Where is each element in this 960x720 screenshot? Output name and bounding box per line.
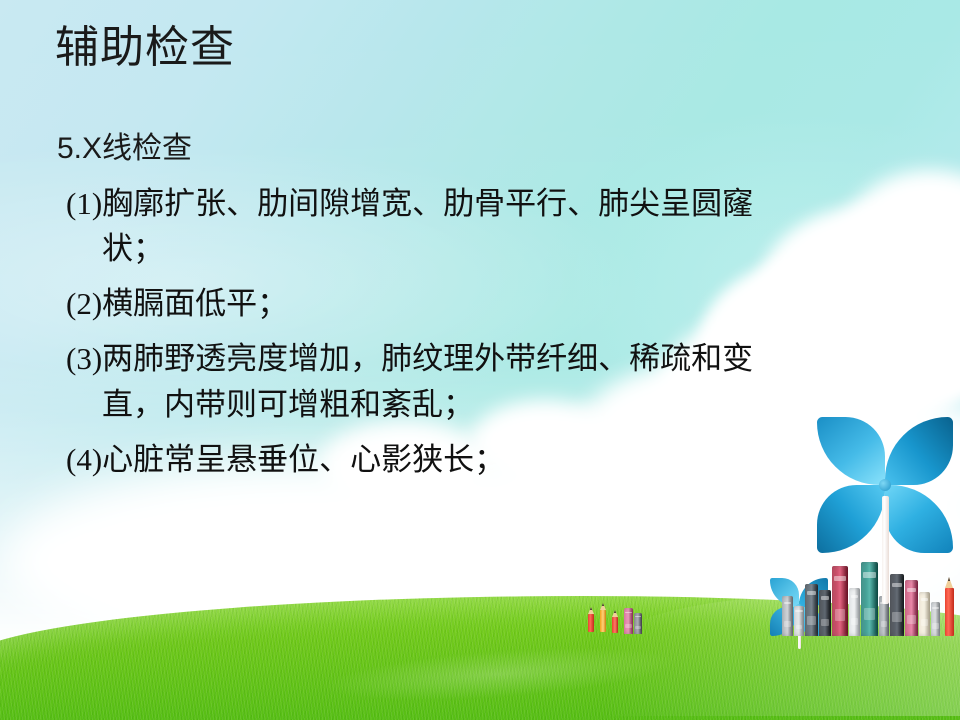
- list-item: (3)两肺野透亮度增加，肺纹理外带纤细、稀疏和变 直，内带则可增粗和紊乱；: [66, 336, 922, 427]
- pencil-icon: [945, 588, 954, 636]
- list-item: (4)心脏常呈悬垂位、心影狭长；: [66, 437, 922, 482]
- list-item: (1)胸廓扩张、肋间隙增宽、肋骨平行、肺尖呈圆窿 状；: [66, 181, 922, 272]
- list-item-line2: 状；: [102, 226, 922, 271]
- content-body: 5.X线检查 (1)胸廓扩张、肋间隙增宽、肋骨平行、肺尖呈圆窿 状； (2)横膈…: [52, 128, 922, 482]
- list-item-line1: (1)胸廓扩张、肋间隙增宽、肋骨平行、肺尖呈圆窿: [66, 186, 753, 221]
- list-item: (2)横膈面低平；: [66, 281, 922, 326]
- list-item-line1: (3)两肺野透亮度增加，肺纹理外带纤细、稀疏和变: [66, 341, 753, 376]
- list-item-line2: 直，内带则可增粗和紊乱；: [102, 382, 922, 427]
- page-title: 辅助检查: [55, 22, 235, 75]
- slide-canvas: 辅助检查 5.X线检查 (1)胸廓扩张、肋间隙增宽、肋骨平行、肺尖呈圆窿 状； …: [0, 0, 960, 720]
- list-item-line1: (4)心脏常呈悬垂位、心影狭长；: [66, 442, 505, 477]
- list-item-line1: (2)横膈面低平；: [66, 286, 288, 321]
- section-heading: 5.X线检查: [57, 128, 922, 171]
